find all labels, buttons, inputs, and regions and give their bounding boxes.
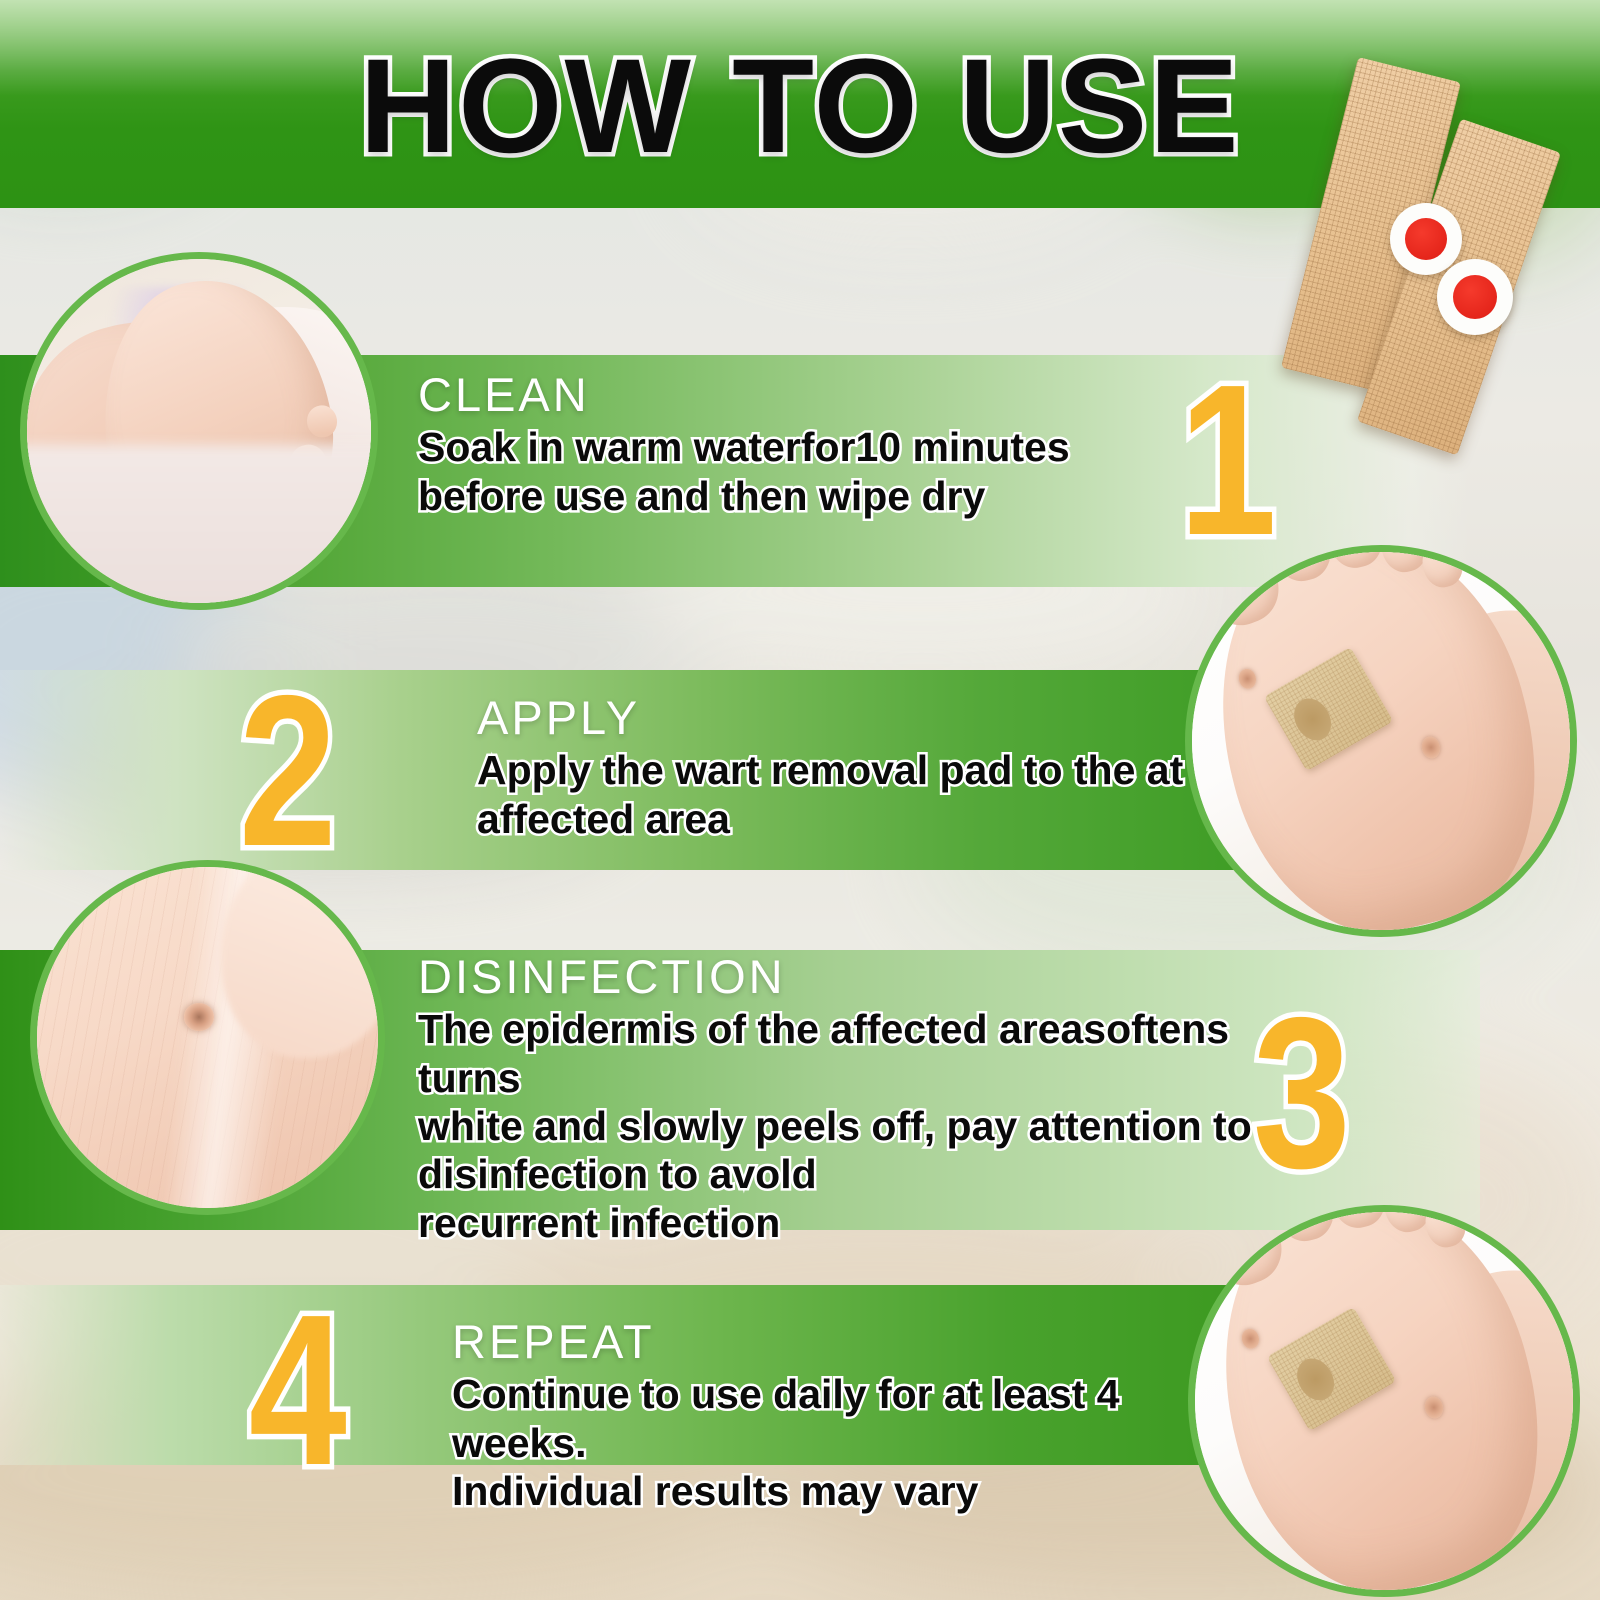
step-2-heading: APPLY bbox=[477, 693, 1237, 742]
step-2-text: APPLY Apply the wart removal pad to the … bbox=[477, 693, 1237, 843]
product-patch-strips bbox=[1300, 55, 1600, 455]
step-2-body: Apply the wart removal pad to the at aff… bbox=[477, 746, 1237, 843]
step-number-2: 2 bbox=[239, 663, 337, 878]
step-4-body: Continue to use daily for at least 4 wee… bbox=[452, 1370, 1232, 1515]
step-number-3: 3 bbox=[1253, 985, 1351, 1200]
photo-feet-soaking bbox=[20, 252, 378, 610]
step-1-heading: CLEAN bbox=[418, 370, 1198, 419]
wart-removal-patch bbox=[1267, 1307, 1397, 1432]
step-3-text: DISINFECTION The epidermis of the affect… bbox=[418, 952, 1298, 1247]
step-3-body: The epidermis of the affected areasoften… bbox=[418, 1005, 1298, 1247]
step-3-heading: DISINFECTION bbox=[418, 952, 1298, 1001]
water-surface bbox=[20, 445, 378, 610]
photo-foot-with-patch-repeat bbox=[1188, 1205, 1580, 1597]
wart-spot bbox=[1237, 667, 1258, 690]
wart-spot bbox=[1240, 1327, 1261, 1350]
step-4-heading: REPEAT bbox=[452, 1317, 1232, 1366]
step-4-text: REPEAT Continue to use daily for at leas… bbox=[452, 1317, 1232, 1515]
step-1-text: CLEAN Soak in warm waterfor10 minutes be… bbox=[418, 370, 1198, 520]
photo-4-scene bbox=[1195, 1212, 1573, 1590]
step-1-body: Soak in warm waterfor10 minutes before u… bbox=[418, 423, 1198, 520]
photo-2-scene bbox=[1192, 552, 1570, 930]
medicated-pad-dot bbox=[1437, 259, 1513, 335]
wart-spot bbox=[184, 1003, 215, 1030]
photo-skin-closeup-wart bbox=[30, 860, 385, 1215]
photo-1-scene bbox=[27, 259, 371, 603]
wart-removal-patch bbox=[1264, 647, 1394, 772]
wart-spot bbox=[1419, 735, 1442, 760]
medicated-pad-dot bbox=[1390, 203, 1462, 275]
step-number-4: 4 bbox=[249, 1282, 347, 1497]
photo-foot-with-patch bbox=[1185, 545, 1577, 937]
wart-spot bbox=[1422, 1395, 1445, 1420]
photo-3-scene bbox=[37, 867, 378, 1208]
toe-blur bbox=[221, 860, 385, 1058]
step-number-1: 1 bbox=[1179, 352, 1277, 567]
